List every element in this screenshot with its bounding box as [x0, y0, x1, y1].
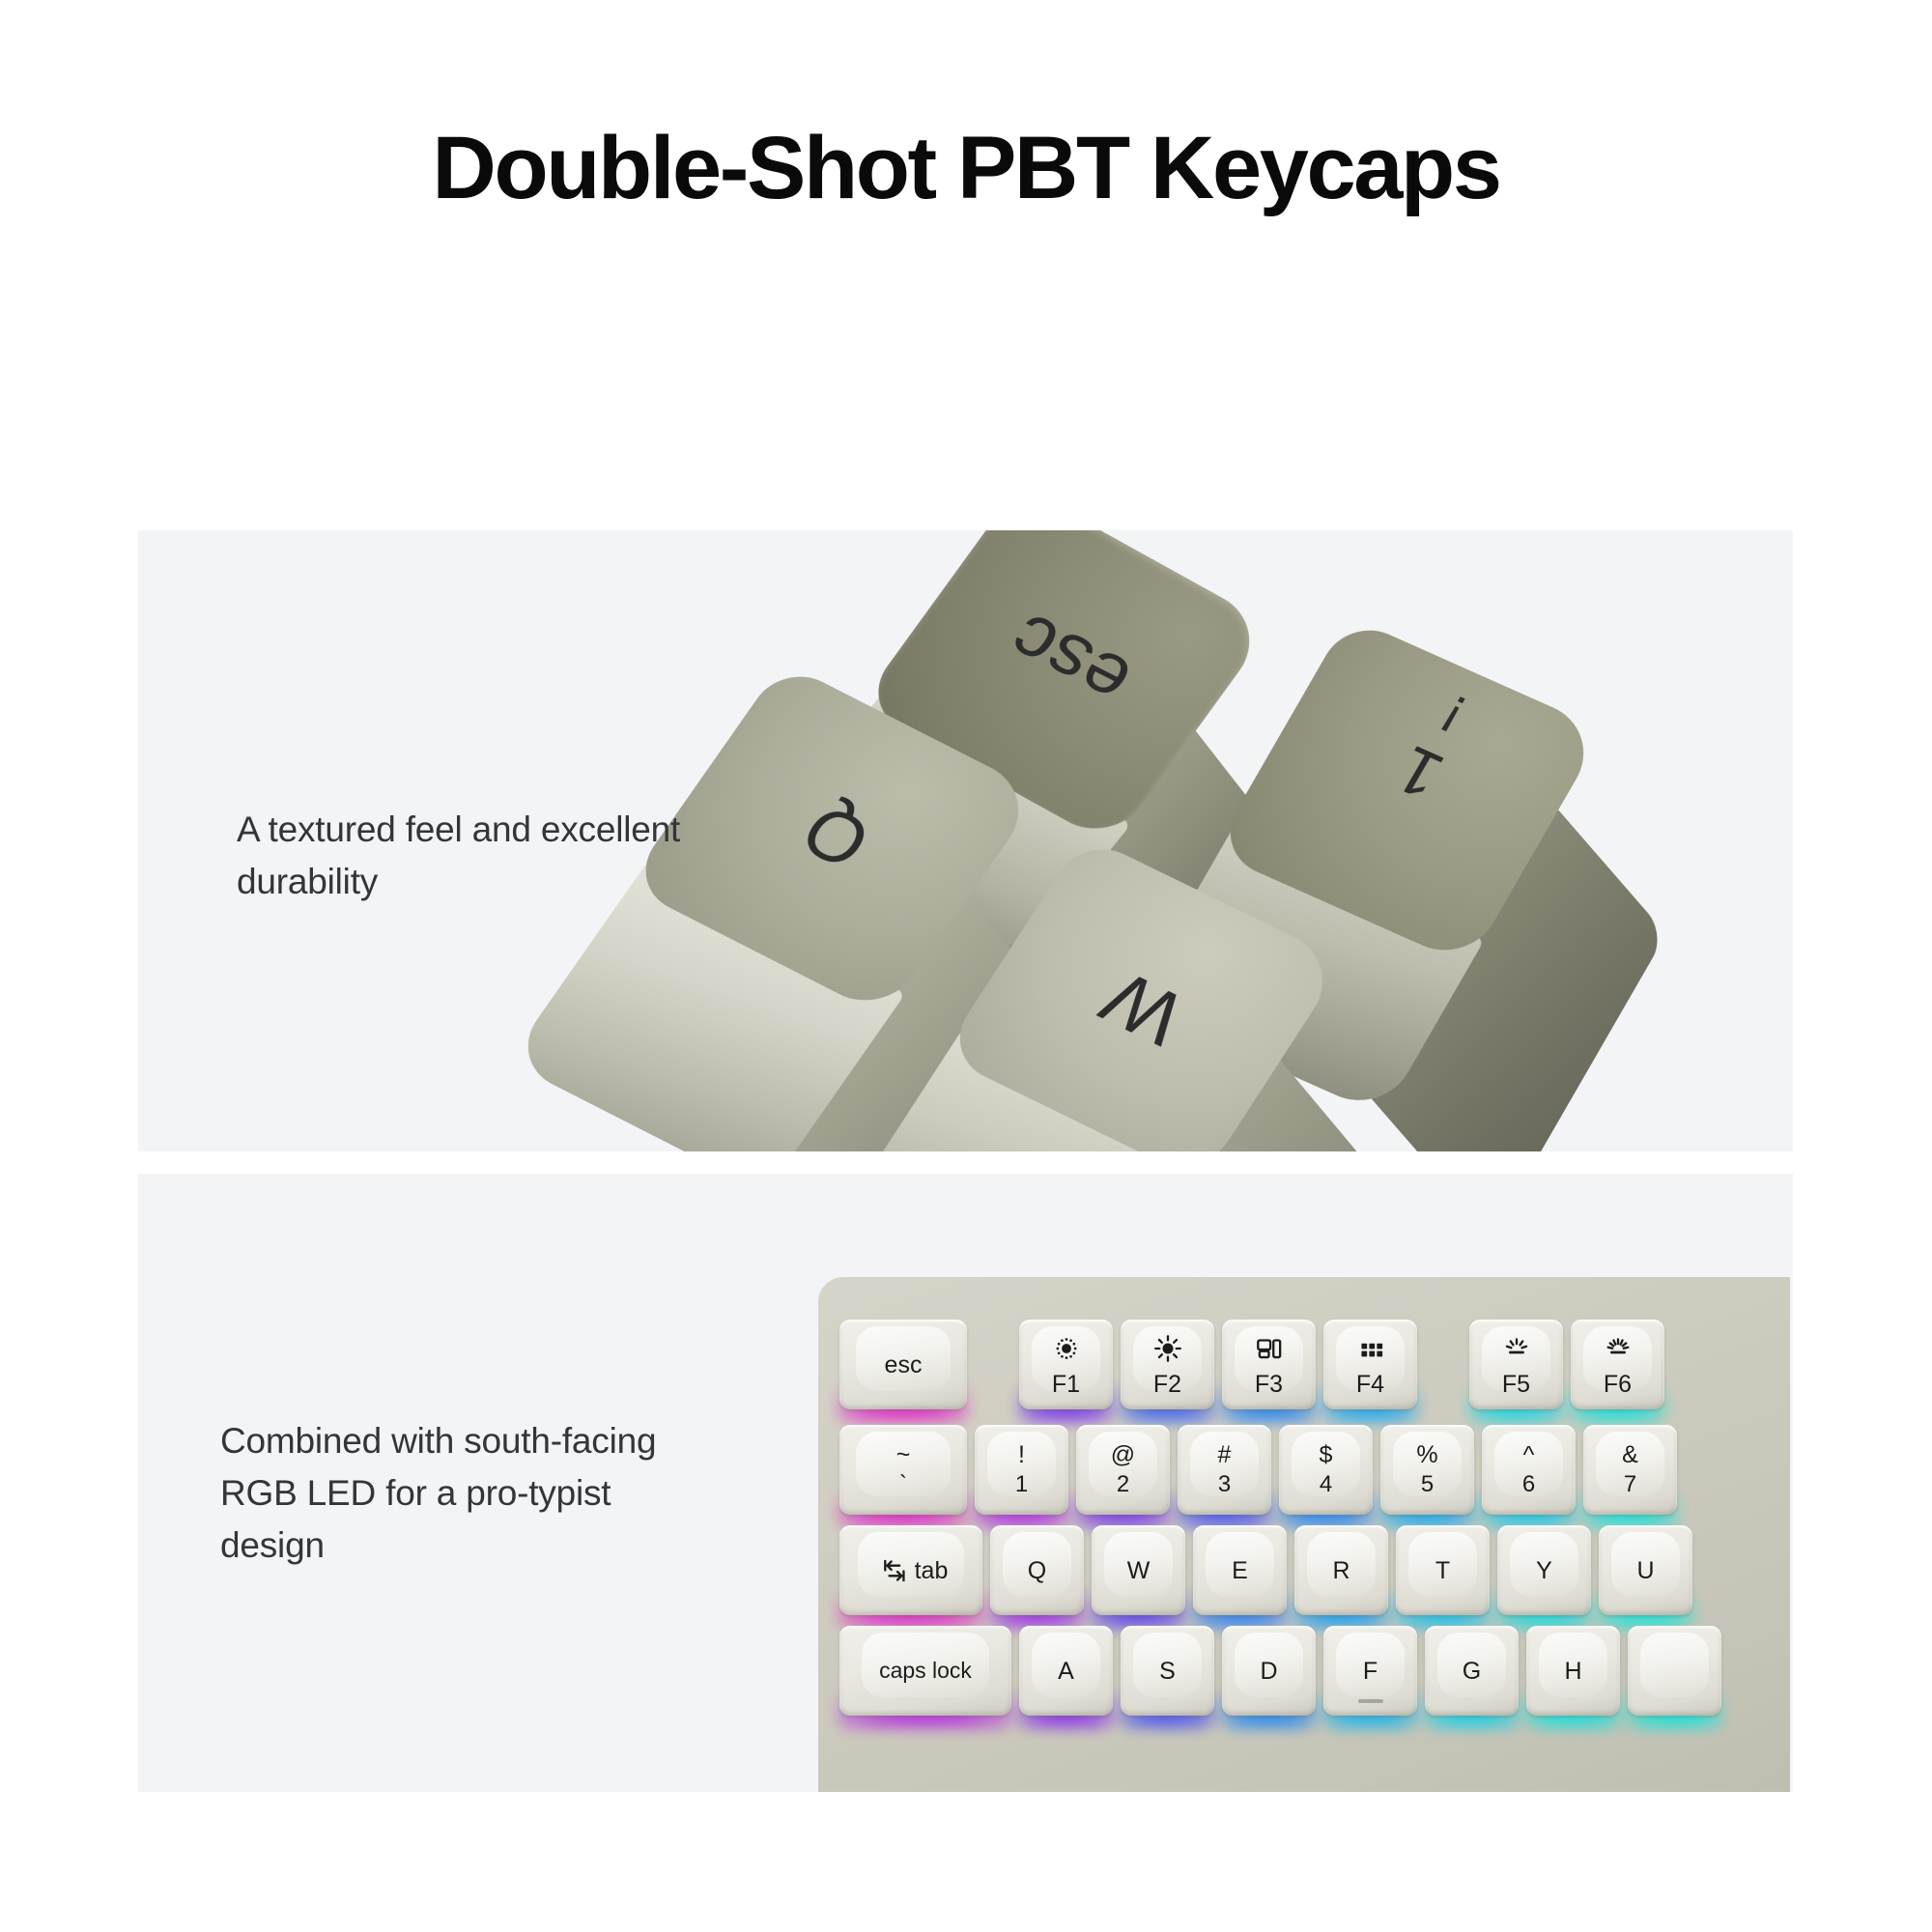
key-legend: A — [1058, 1658, 1074, 1685]
key-cap: tab — [839, 1525, 982, 1615]
keyboard-row-number-row: ~`!1@2#3$4%5^6&7 — [839, 1425, 1793, 1515]
key-legend-bottom: 2 — [1117, 1470, 1129, 1499]
key-cap: F4 — [1323, 1320, 1417, 1409]
key-legend: F1 — [1052, 1371, 1080, 1398]
key-cap: &7 — [1583, 1425, 1677, 1515]
key-three[interactable]: #3 — [1178, 1425, 1271, 1515]
key-legend: F3 — [1255, 1371, 1283, 1398]
key-cap: $4 — [1279, 1425, 1373, 1515]
key-two[interactable]: @2 — [1076, 1425, 1170, 1515]
key-cap: F — [1323, 1626, 1417, 1716]
key-legend: H — [1564, 1658, 1581, 1685]
key-legend-bottom: 5 — [1421, 1470, 1434, 1499]
key-legend: caps lock — [879, 1659, 972, 1684]
key-cap: Y — [1497, 1525, 1591, 1615]
key-cap: S — [1121, 1626, 1214, 1716]
key-legend: F2 — [1153, 1371, 1181, 1398]
key-backtick[interactable]: ~` — [839, 1425, 967, 1515]
key-a[interactable]: A — [1019, 1626, 1113, 1716]
key-u[interactable]: U — [1599, 1525, 1692, 1615]
key-legend: esc — [885, 1351, 923, 1378]
key-cap: A — [1019, 1626, 1113, 1716]
key-legend-top: ! — [1018, 1440, 1025, 1470]
key-s[interactable]: S — [1121, 1626, 1214, 1716]
key-legend: T — [1435, 1557, 1450, 1584]
key-legend: G — [1463, 1658, 1481, 1685]
key-legend-bottom: 1 — [1015, 1470, 1028, 1499]
key-legend: R — [1332, 1557, 1350, 1584]
key-legend-top: ~ — [896, 1440, 911, 1470]
key-legend-bottom: 3 — [1218, 1470, 1231, 1499]
key-f1[interactable]: F1 — [1019, 1320, 1113, 1409]
keyboard-row-home-row: caps lockASDFGH — [839, 1626, 1793, 1716]
key-five[interactable]: %5 — [1380, 1425, 1474, 1515]
panel-right-fade — [1790, 1174, 1793, 1792]
key-cap: #3 — [1178, 1425, 1271, 1515]
key-cap: G — [1425, 1626, 1519, 1716]
key-cap: %5 — [1380, 1425, 1474, 1515]
key-h[interactable]: H — [1526, 1626, 1620, 1716]
key-legend-top: % — [1416, 1440, 1437, 1470]
mission-control-icon — [1253, 1332, 1286, 1365]
feature-panel-rgb-led: Combined with south-facing RGB LED for a… — [138, 1174, 1793, 1792]
keyboard-rows: escF1F2 F3F4F5F6~`!1@2#3$4%5^6&7 tabQWER… — [839, 1320, 1793, 1792]
key-f3[interactable]: F3 — [1222, 1320, 1316, 1409]
key-cap: F5 — [1469, 1320, 1563, 1409]
key-cap: W — [1092, 1525, 1185, 1615]
key-cap: R — [1294, 1525, 1388, 1615]
key-j[interactable] — [1628, 1626, 1721, 1716]
key-t[interactable]: T — [1396, 1525, 1490, 1615]
brightness-up-icon — [1151, 1332, 1184, 1365]
key-cap: ~` — [839, 1425, 967, 1515]
key-r[interactable]: R — [1294, 1525, 1388, 1615]
key-f2[interactable]: F2 — [1121, 1320, 1214, 1409]
keyboard-row-gap — [1425, 1320, 1462, 1409]
key-legend: S — [1159, 1658, 1176, 1685]
key-legend: F6 — [1604, 1371, 1632, 1398]
key-legend-top: & — [1622, 1440, 1638, 1470]
tab-arrows-icon — [880, 1554, 913, 1587]
key-cap: caps lock — [839, 1626, 1011, 1716]
key-f4[interactable]: F4 — [1323, 1320, 1417, 1409]
panel-caption-textured-feel: A textured feel and excellent durability — [237, 804, 691, 908]
key-legend: F5 — [1502, 1371, 1530, 1398]
key-legend-bottom: 4 — [1320, 1470, 1332, 1499]
keyboard-row-qwerty-row: tabQWERTYU — [839, 1525, 1793, 1615]
key-f[interactable]: F — [1323, 1626, 1417, 1716]
key-legend-top: $ — [1320, 1440, 1333, 1470]
keyboard-row-gap — [975, 1320, 1011, 1409]
key-cap: F3 — [1222, 1320, 1316, 1409]
key-legend-top: ^ — [1523, 1440, 1535, 1470]
key-cap: F6 — [1571, 1320, 1664, 1409]
key-legend: tab — [915, 1557, 949, 1584]
key-cap: D — [1222, 1626, 1316, 1716]
homing-bar-indicator — [1358, 1699, 1383, 1703]
key-cap: !1 — [975, 1425, 1068, 1515]
key-legend: Y — [1536, 1557, 1552, 1584]
key-cap: ^6 — [1482, 1425, 1576, 1515]
key-legend: E — [1232, 1557, 1248, 1584]
key-esc[interactable]: esc — [839, 1320, 967, 1409]
key-cap: @2 — [1076, 1425, 1170, 1515]
key-legend: F4 — [1356, 1371, 1384, 1398]
product-feature-page: Double-Shot PBT Keycaps A textured feel … — [0, 0, 1932, 1932]
key-e[interactable]: E — [1193, 1525, 1287, 1615]
key-legend-top: @ — [1111, 1440, 1135, 1470]
key-legend-bottom: 7 — [1624, 1470, 1636, 1499]
key-f6[interactable]: F6 — [1571, 1320, 1664, 1409]
launchpad-icon — [1354, 1332, 1387, 1365]
keycap-macro-image: esc ! 1 Q W — [592, 530, 1793, 1151]
key-legend-bottom: 6 — [1522, 1470, 1535, 1499]
key-d[interactable]: D — [1222, 1626, 1316, 1716]
key-legend: W — [1127, 1557, 1151, 1584]
key-cap — [1628, 1626, 1721, 1716]
key-one[interactable]: !1 — [975, 1425, 1068, 1515]
keyboard-image: escF1F2 F3F4F5F6~`!1@2#3$4%5^6&7 tabQWER… — [818, 1277, 1793, 1792]
key-legend-top: # — [1218, 1440, 1232, 1470]
key-legend: Q — [1028, 1557, 1046, 1584]
key-legend: F — [1363, 1658, 1378, 1685]
key-seven[interactable]: &7 — [1583, 1425, 1677, 1515]
keycap-one: ! 1 — [1212, 616, 1605, 966]
key-cap: U — [1599, 1525, 1692, 1615]
key-cap: T — [1396, 1525, 1490, 1615]
keyboard-row-function-row: escF1F2 F3F4F5F6 — [839, 1320, 1793, 1409]
key-six[interactable]: ^6 — [1482, 1425, 1576, 1515]
key-cap: H — [1526, 1626, 1620, 1716]
key-q[interactable]: Q — [990, 1525, 1084, 1615]
key-legend-bottom: ` — [899, 1470, 907, 1499]
key-four[interactable]: $4 — [1279, 1425, 1373, 1515]
key-cap: F2 — [1121, 1320, 1214, 1409]
key-tab[interactable]: tab — [839, 1525, 982, 1615]
key-cap: esc — [839, 1320, 967, 1409]
panel-caption-rgb-led: Combined with south-facing RGB LED for a… — [220, 1415, 674, 1572]
brightness-down-icon — [1050, 1332, 1083, 1365]
key-w[interactable]: W — [1092, 1525, 1185, 1615]
key-g[interactable]: G — [1425, 1626, 1519, 1716]
key-cap: F1 — [1019, 1320, 1113, 1409]
key-cap: E — [1193, 1525, 1287, 1615]
key-y[interactable]: Y — [1497, 1525, 1591, 1615]
key-legend: D — [1260, 1658, 1277, 1685]
key-cap: Q — [990, 1525, 1084, 1615]
key-caps-lock[interactable]: caps lock — [839, 1626, 1011, 1716]
feature-panel-textured-feel: A textured feel and excellent durability… — [138, 530, 1793, 1151]
backlight-down-icon — [1500, 1332, 1533, 1365]
backlight-up-icon — [1602, 1332, 1634, 1365]
key-legend: U — [1636, 1557, 1654, 1584]
page-title: Double-Shot PBT Keycaps — [0, 118, 1932, 218]
key-f5[interactable]: F5 — [1469, 1320, 1563, 1409]
